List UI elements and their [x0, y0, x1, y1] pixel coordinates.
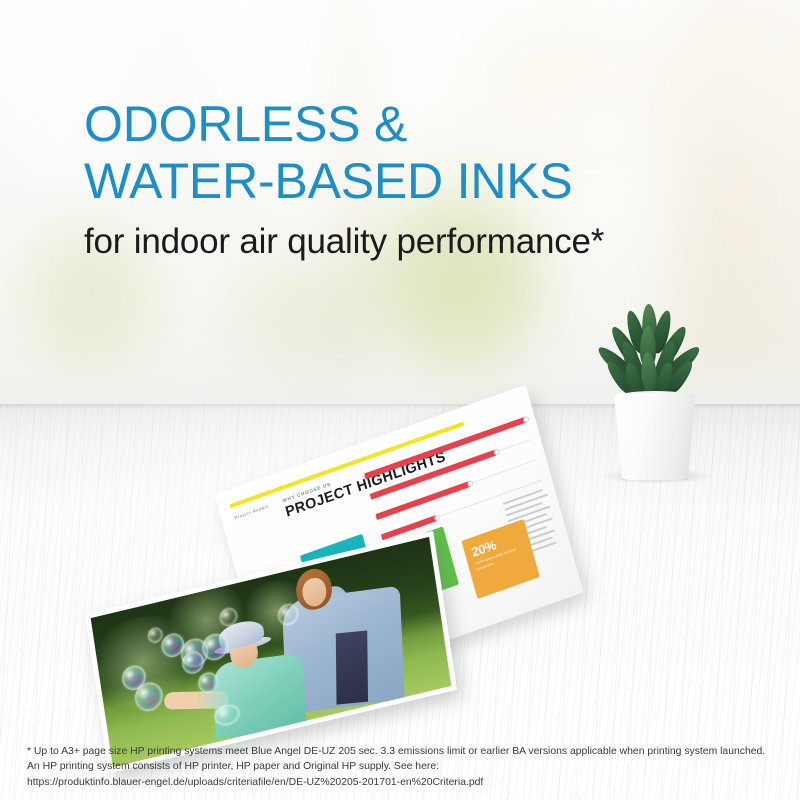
legal-footnote: * Up to A3+ page size HP printing system…	[27, 744, 779, 790]
brochure-bar-endpoint	[434, 514, 441, 522]
brochure-bar-endpoint	[467, 480, 474, 488]
marketing-poster: Project Report WHY CHOOSE US PROJECT HIG…	[0, 0, 800, 800]
ceramic-pot	[614, 393, 696, 480]
headline: ODORLESS & WATER-BASED INKS	[84, 96, 764, 210]
subheadline: for indoor air quality performance*	[84, 221, 764, 263]
headline-block: ODORLESS & WATER-BASED INKS for indoor a…	[84, 96, 764, 263]
potted-succulent	[596, 300, 716, 480]
photo-woman-trousers	[336, 631, 368, 705]
brochure-bar-endpoint	[493, 448, 500, 456]
brochure-eyebrow: Project Report	[234, 504, 269, 521]
brochure-bar-endpoint	[522, 416, 529, 424]
